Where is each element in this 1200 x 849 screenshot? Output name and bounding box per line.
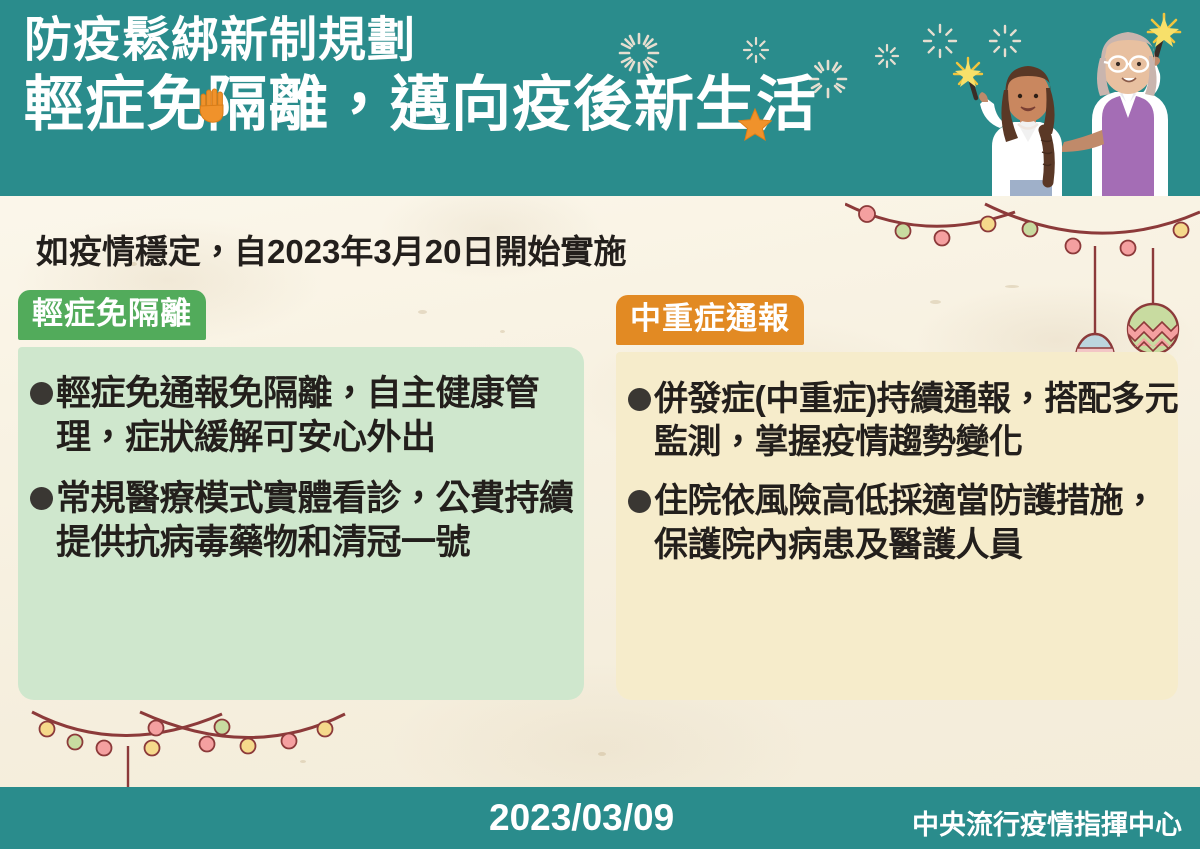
title-line-2: 輕症免隔離，邁向疫後新生活: [24, 70, 817, 141]
firework-burst-icon: [874, 43, 900, 69]
list-item: 常規醫療模式實體看診，公費持續提供抗病毒藥物和清冠一號: [30, 477, 586, 566]
bullet-text: 輕症免通報免隔離，自主健康管理，症狀緩解可安心外出: [56, 372, 586, 461]
tag-moderate-severe-cases: 中重症通報: [616, 295, 804, 345]
footer-date: 2023/03/09: [489, 797, 674, 839]
paper-speck: [598, 752, 606, 756]
two-people-with-sparklers-illustration: [940, 0, 1200, 196]
bullet-text: 常規醫療模式實體看診，公費持續提供抗病毒藥物和清冠一號: [56, 477, 586, 566]
bullet-dot-icon: [30, 487, 53, 510]
bullet-dot-icon: [628, 388, 651, 411]
star-icon: [738, 108, 772, 141]
list-item: 輕症免通報免隔離，自主健康管理，症狀緩解可安心外出: [30, 372, 586, 461]
bullet-dot-icon: [628, 490, 651, 513]
tag-mild-cases: 輕症免隔離: [18, 290, 206, 340]
title-line-1: 防疫鬆綁新制規劃: [24, 14, 817, 68]
hanging-ornament-zigzag: [1126, 304, 1180, 354]
paper-speck: [500, 330, 505, 333]
header-title-block: 防疫鬆綁新制規劃 輕症免隔離，邁向疫後新生活: [24, 14, 817, 141]
header-band: 防疫鬆綁新制規劃 輕症免隔離，邁向疫後新生活: [0, 0, 1200, 196]
bullet-list-mild-cases: 輕症免通報免隔離，自主健康管理，症狀緩解可安心外出 常規醫療模式實體看診，公費持…: [30, 372, 586, 582]
bullet-text: 住院依風險高低採適當防護措施，保護院內病患及醫護人員: [654, 480, 1180, 566]
bullet-text: 併發症(中重症)持續通報，搭配多元監測，掌握疫情趨勢變化: [654, 378, 1180, 464]
poster-root: 防疫鬆綁新制規劃 輕症免隔離，邁向疫後新生活 如疫情穩定，自2023年3月20日…: [0, 0, 1200, 849]
subtitle-text: 如疫情穩定，自2023年3月20日開始實施: [36, 225, 626, 273]
footer-organization: 中央流行疫情指揮中心: [912, 803, 1182, 842]
paper-speck: [418, 310, 427, 314]
raised-hand-icon: [198, 88, 228, 124]
list-item: 住院依風險高低採適當防護措施，保護院內病患及醫護人員: [628, 480, 1180, 566]
bullet-dot-icon: [30, 382, 53, 405]
list-item: 併發症(中重症)持續通報，搭配多元監測，掌握疫情趨勢變化: [628, 378, 1180, 464]
bullet-list-moderate-severe-cases: 併發症(中重症)持續通報，搭配多元監測，掌握疫情趨勢變化 住院依風險高低採適當防…: [628, 378, 1180, 583]
